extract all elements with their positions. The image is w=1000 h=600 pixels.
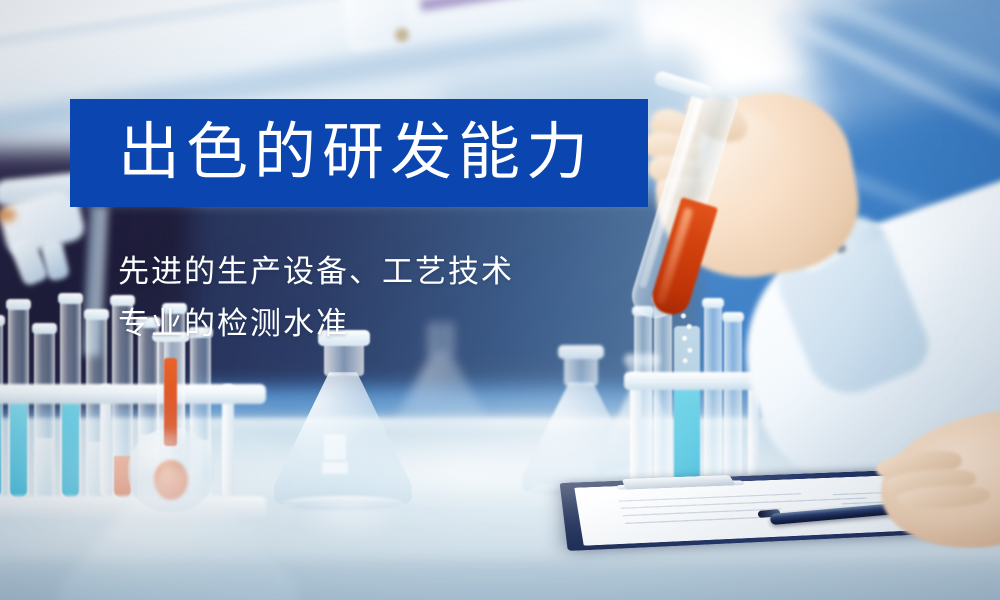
lab-capability-banner: 出色的研发能力 先进的生产设备、工艺技术 专业的检测水准 [0, 0, 1000, 600]
subtitle-line-1: 先进的生产设备、工艺技术 [118, 246, 718, 298]
headline-band: 出色的研发能力 [70, 99, 648, 207]
subtitle-block: 先进的生产设备、工艺技术 专业的检测水准 [118, 246, 718, 350]
page-title: 出色的研发能力 [70, 122, 594, 184]
subtitle-line-2: 专业的检测水准 [118, 298, 718, 350]
